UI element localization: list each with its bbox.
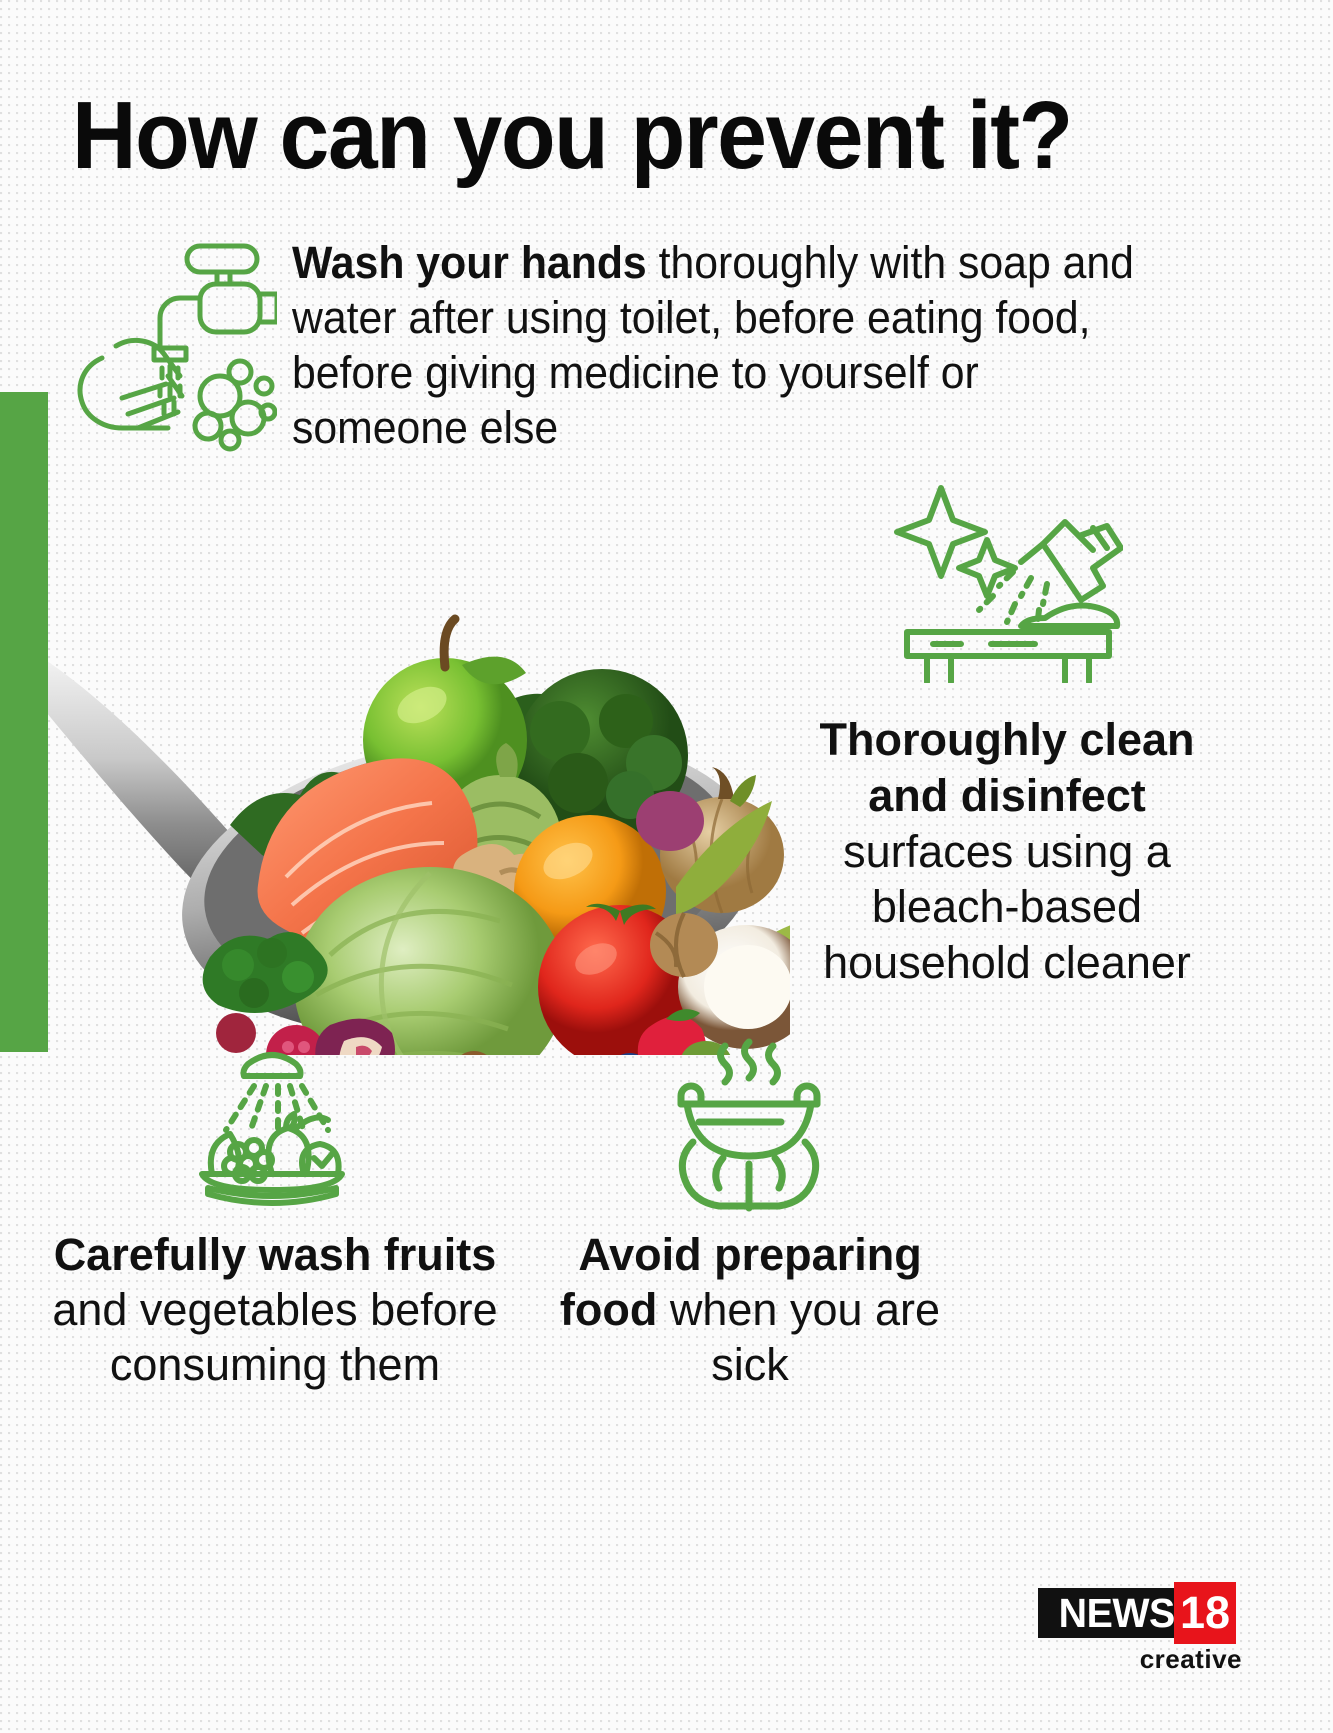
tip-wash-hands-text: Wash your hands thoroughly with soap and… bbox=[292, 236, 1147, 456]
tip-wash-produce-bold: Carefully wash fruits bbox=[54, 1229, 497, 1280]
logo-tagline: creative bbox=[1038, 1644, 1242, 1675]
tip-wash-produce-rest: and vegetables before consuming them bbox=[52, 1284, 497, 1390]
tip-wash-hands-bold: Wash your hands bbox=[292, 237, 647, 288]
tip-disinfect-text: Thoroughly clean and disinfect surfaces … bbox=[812, 712, 1202, 991]
shower-fruit-bowl-icon bbox=[188, 1042, 356, 1212]
news18-creative-logo[interactable]: NEWS 18 creative bbox=[1038, 1588, 1250, 1680]
spray-disinfect-table-icon bbox=[893, 468, 1123, 683]
logo-wordmark: NEWS 18 bbox=[1038, 1588, 1250, 1644]
hands-holding-hot-bowl-icon bbox=[663, 1038, 835, 1213]
page-title: How can you prevent it? bbox=[72, 88, 1169, 184]
left-accent-bar bbox=[0, 392, 48, 1052]
logo-news-text: NEWS bbox=[1038, 1588, 1195, 1638]
logo-18-badge: 18 bbox=[1174, 1582, 1236, 1644]
food-photo bbox=[30, 555, 790, 1055]
handwash-tap-icon bbox=[72, 222, 277, 452]
tip-wash-produce-text: Carefully wash fruits and vegetables bef… bbox=[35, 1228, 515, 1393]
tip-avoid-cooking-rest: when you are sick bbox=[657, 1284, 940, 1390]
tip-disinfect-bold: Thoroughly clean and disinfect bbox=[819, 714, 1194, 821]
tip-disinfect-rest: surfaces using a bleach-based household … bbox=[823, 826, 1191, 989]
tip-avoid-cooking-text: Avoid preparing food when you are sick bbox=[530, 1228, 970, 1393]
